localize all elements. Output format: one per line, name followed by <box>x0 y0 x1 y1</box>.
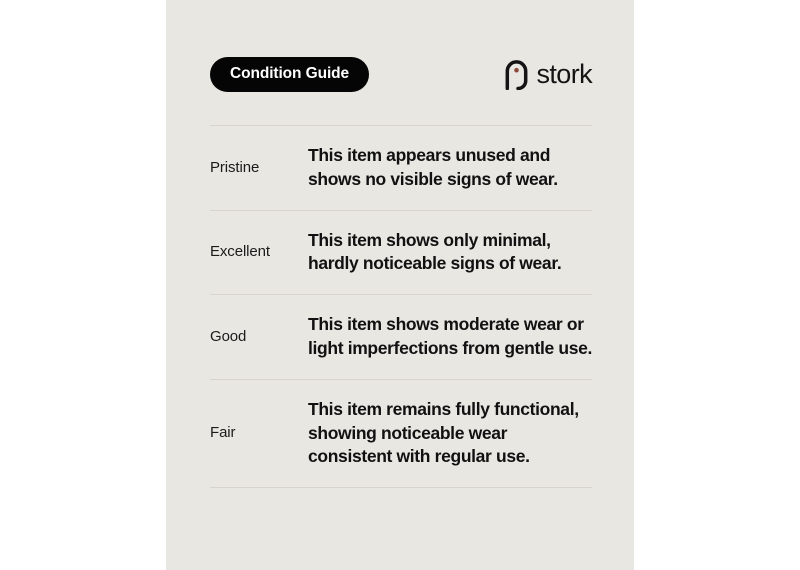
stork-wordmark: stork <box>536 61 592 88</box>
condition-guide-panel: Condition Guide stork Pristine This item… <box>166 0 634 570</box>
condition-description: This item shows only minimal, hardly not… <box>308 229 592 277</box>
screenshot-stage: Condition Guide stork Pristine This item… <box>0 0 800 570</box>
table-divider <box>210 487 592 488</box>
condition-label: Good <box>210 328 308 346</box>
condition-guide-badge: Condition Guide <box>210 57 369 92</box>
stork-arch-logo-icon <box>504 59 529 90</box>
brand-lockup: stork <box>504 59 592 90</box>
table-row: Pristine This item appears unused and sh… <box>210 126 592 210</box>
condition-table: Pristine This item appears unused and sh… <box>210 125 592 488</box>
condition-label: Fair <box>210 424 308 442</box>
condition-description: This item remains fully functional, show… <box>308 398 592 469</box>
table-row: Excellent This item shows only minimal, … <box>210 211 592 295</box>
table-row: Good This item shows moderate wear or li… <box>210 295 592 379</box>
condition-description: This item appears unused and shows no vi… <box>308 144 592 192</box>
condition-label: Pristine <box>210 159 308 177</box>
condition-description: This item shows moderate wear or light i… <box>308 313 592 361</box>
condition-label: Excellent <box>210 243 308 261</box>
panel-header: Condition Guide stork <box>210 56 592 92</box>
table-row: Fair This item remains fully functional,… <box>210 380 592 487</box>
